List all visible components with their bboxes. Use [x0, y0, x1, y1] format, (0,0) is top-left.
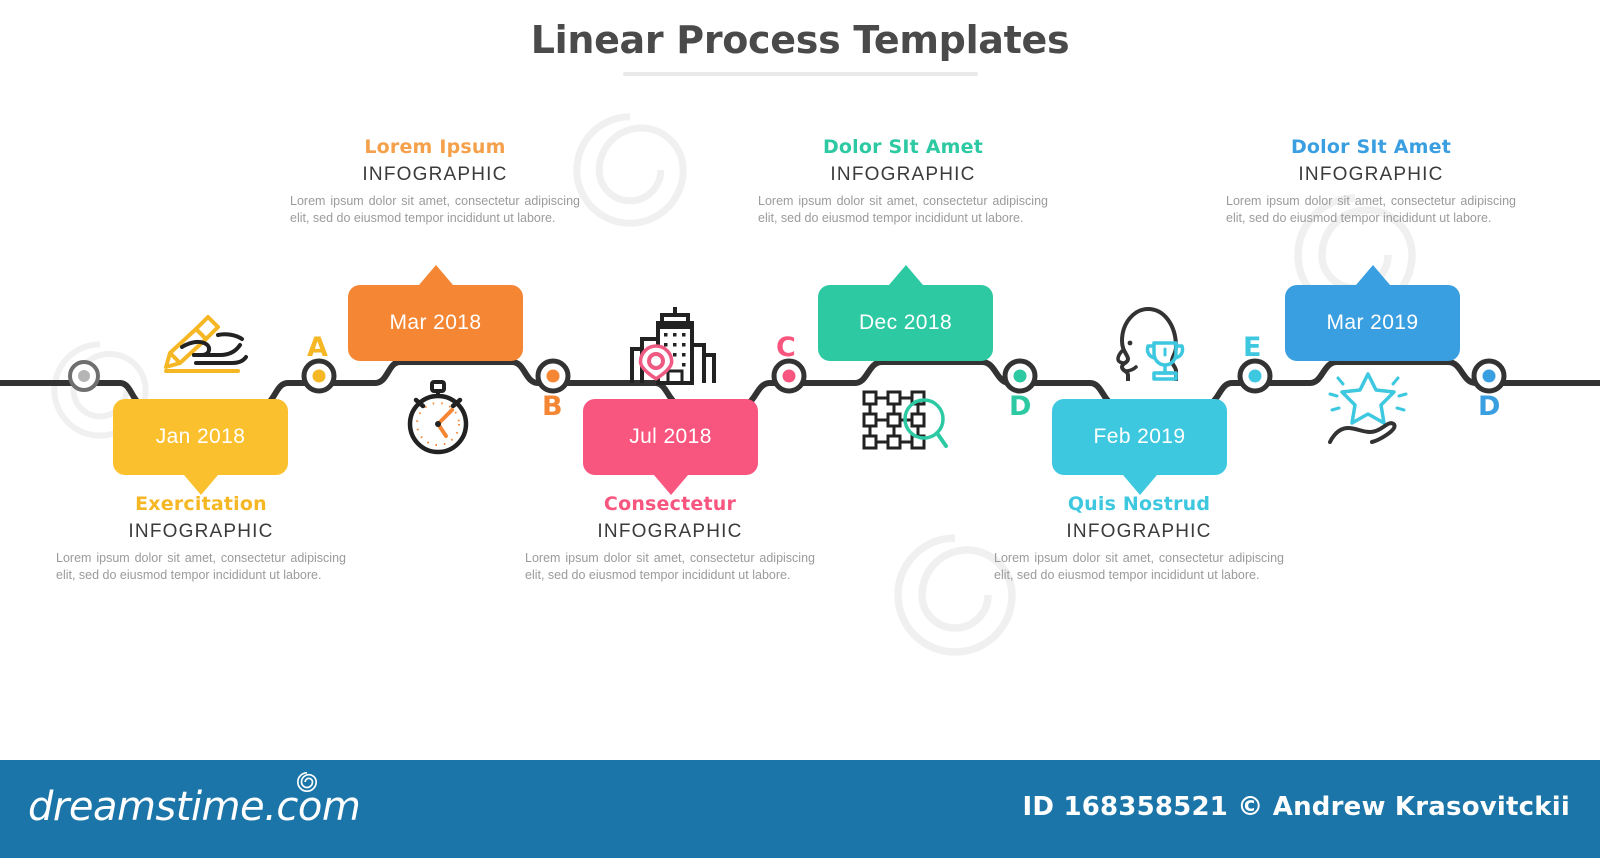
- head-trophy-icon: [1096, 303, 1190, 385]
- step-body-4: Lorem ipsum dolor sit amet, consectetur …: [758, 193, 1048, 227]
- step-subheading-5: INFOGRAPHIC: [994, 521, 1284, 543]
- timeline-letter-a: A: [307, 332, 328, 363]
- timeline-letter-d2: D: [1478, 391, 1500, 422]
- timeline-node-c: [774, 361, 804, 391]
- step-heading-3: Consectetur: [525, 493, 815, 515]
- timeline-node-d2: [1474, 361, 1504, 391]
- step-block-5: Quis Nostrud INFOGRAPHIC Lorem ipsum dol…: [994, 493, 1284, 584]
- step-subheading-6: INFOGRAPHIC: [1226, 164, 1516, 186]
- hand-pencil-icon: [160, 305, 260, 375]
- timeline-node-a: [304, 361, 334, 391]
- step-heading-6: Dolor SIt Amet: [1226, 136, 1516, 158]
- step-subheading-3: INFOGRAPHIC: [525, 521, 815, 543]
- footer-bar: dreamstime.com ID 168358521 © Andrew Kra…: [0, 760, 1600, 858]
- step-body-3: Lorem ipsum dolor sit amet, consectetur …: [525, 550, 815, 584]
- step-block-1: Exercitation INFOGRAPHIC Lorem ipsum dol…: [56, 493, 346, 584]
- timeline-node-d1: [1005, 361, 1035, 391]
- date-bubble-jan-2018: Jan 2018: [113, 399, 288, 475]
- date-bubble-jul-2018: Jul 2018: [583, 399, 758, 475]
- step-block-3: Consectetur INFOGRAPHIC Lorem ipsum dolo…: [525, 493, 815, 584]
- timeline-node-start: [70, 362, 98, 390]
- bubble-tail: [184, 475, 218, 495]
- image-credit: ID 168358521 © Andrew Krasovitckii: [1023, 792, 1570, 822]
- bubble-tail: [654, 475, 688, 495]
- bubble-tail: [1356, 265, 1390, 285]
- date-bubble-dec-2018: Dec 2018: [818, 285, 993, 361]
- step-heading-1: Exercitation: [56, 493, 346, 515]
- building-location-icon: [624, 305, 716, 385]
- step-subheading-2: INFOGRAPHIC: [290, 164, 580, 186]
- timeline-node-e: [1240, 361, 1270, 391]
- timeline-node-b: [538, 361, 568, 391]
- timeline-letter-c: C: [776, 332, 796, 363]
- timeline-letter-b: B: [542, 391, 563, 422]
- date-bubble-mar-2019: Mar 2019: [1285, 285, 1460, 361]
- dreamstime-logo[interactable]: dreamstime.com: [28, 784, 360, 830]
- bubble-tail: [889, 265, 923, 285]
- step-subheading-1: INFOGRAPHIC: [56, 521, 346, 543]
- bubble-tail: [419, 265, 453, 285]
- date-bubble-mar-2018: Mar 2018: [348, 285, 523, 361]
- bubble-tail: [1123, 475, 1157, 495]
- hand-star-icon: [1322, 368, 1418, 444]
- step-subheading-4: INFOGRAPHIC: [758, 164, 1048, 186]
- step-body-2: Lorem ipsum dolor sit amet, consectetur …: [290, 193, 580, 227]
- step-heading-2: Lorem Ipsum: [290, 136, 580, 158]
- step-block-4: Dolor SIt Amet INFOGRAPHIC Lorem ipsum d…: [758, 136, 1048, 227]
- step-block-2: Lorem Ipsum INFOGRAPHIC Lorem ipsum dolo…: [290, 136, 580, 227]
- step-body-6: Lorem ipsum dolor sit amet, consectetur …: [1226, 193, 1516, 227]
- date-bubble-feb-2019: Feb 2019: [1052, 399, 1227, 475]
- infographic-stage: Linear Process Templates: [0, 0, 1600, 760]
- step-heading-5: Quis Nostrud: [994, 493, 1284, 515]
- timeline-letter-d1: D: [1009, 391, 1031, 422]
- stopwatch-icon: [396, 374, 480, 460]
- timeline-letter-e: E: [1243, 332, 1261, 363]
- step-block-6: Dolor SIt Amet INFOGRAPHIC Lorem ipsum d…: [1226, 136, 1516, 227]
- spiral-icon: [296, 771, 318, 793]
- step-body-1: Lorem ipsum dolor sit amet, consectetur …: [56, 550, 346, 584]
- step-heading-4: Dolor SIt Amet: [758, 136, 1048, 158]
- step-body-5: Lorem ipsum dolor sit amet, consectetur …: [994, 550, 1284, 584]
- grid-search-icon: [856, 388, 952, 454]
